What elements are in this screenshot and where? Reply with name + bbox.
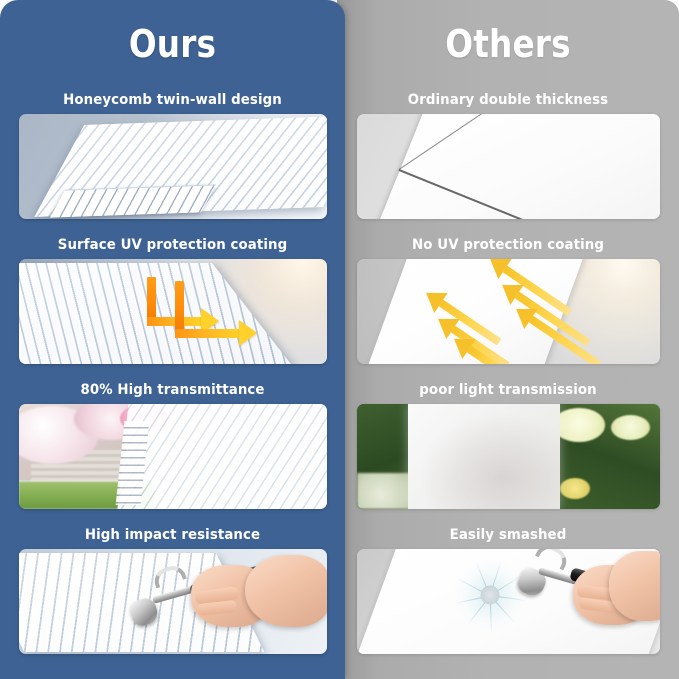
others-feature-image-poorlight (357, 404, 660, 509)
ours-feature-label-transmittance: 80% High transmittance (14, 378, 331, 404)
ours-panel-title: Ours (24, 22, 321, 66)
others-feature-image-thickness (357, 114, 660, 219)
ours-feature-row-uv: Surface UV protection coating (0, 233, 345, 364)
others-feature-row-smashed: Easily smashed (337, 523, 679, 654)
others-feature-row-thickness: Ordinary double thickness (337, 88, 679, 219)
others-feature-label-poorlight: poor light transmission (351, 378, 666, 404)
ours-feature-image-impact (19, 549, 327, 654)
ours-feature-label-uv: Surface UV protection coating (14, 233, 331, 259)
ours-feature-row-honeycomb: Honeycomb twin-wall design (0, 88, 345, 219)
ours-feature-label-honeycomb: Honeycomb twin-wall design (14, 88, 331, 114)
ours-feature-image-uv (19, 259, 327, 364)
others-feature-image-nouv (357, 259, 660, 364)
others-feature-row-nouv: No UV protection coating (337, 233, 679, 364)
ours-feature-label-impact: High impact resistance (14, 523, 331, 549)
ours-feature-row-transmittance: 80% High transmittance (0, 378, 345, 509)
comparison-infographic: Ours Honeycomb twin-wall design Surface … (0, 0, 679, 679)
ours-feature-image-honeycomb (19, 114, 327, 219)
ours-feature-list: Honeycomb twin-wall design Surface UV pr… (0, 88, 345, 654)
crack-impact-point (480, 586, 499, 605)
others-panel-title: Others (361, 22, 655, 66)
others-feature-image-smashed (357, 549, 660, 654)
hydrangea-bloom-1 (553, 408, 605, 442)
opaque-panel-overlay (408, 404, 560, 509)
translucent-panel-overlay (118, 404, 327, 509)
crack-starburst (453, 558, 527, 632)
uv-arrow-shaft-vertical (147, 277, 156, 321)
ours-feature-row-impact: High impact resistance (0, 523, 345, 654)
uv-arrow-head (239, 320, 257, 346)
hydrangea-bloom-2 (611, 415, 650, 440)
others-feature-row-poorlight: poor light transmission (337, 378, 679, 509)
others-feature-label-thickness: Ordinary double thickness (351, 88, 666, 114)
forearm-ours (245, 555, 327, 627)
honeycomb-cell-edge (49, 184, 215, 217)
ours-panel: Ours Honeycomb twin-wall design Surface … (0, 0, 345, 679)
others-feature-label-nouv: No UV protection coating (351, 233, 666, 259)
uv-arrow-shaft-horizontal (175, 329, 241, 338)
uv-arrow-shaft-vertical (175, 281, 184, 333)
yellow-bloom (560, 478, 590, 499)
others-feature-label-smashed: Easily smashed (351, 523, 666, 549)
others-feature-list: Ordinary double thickness No UV protecti… (337, 88, 679, 654)
ours-feature-image-transmittance (19, 404, 327, 509)
others-panel: Others Ordinary double thickness No UV p… (337, 0, 679, 679)
